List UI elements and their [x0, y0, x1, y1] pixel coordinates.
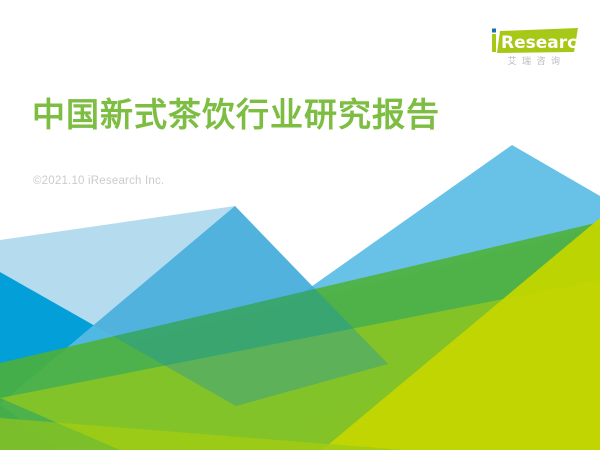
copyright-notice: ©2021.10 iResearch Inc. — [33, 175, 164, 187]
svg-text:Research: Research — [501, 33, 578, 53]
iresearch-logo: Research 艾瑞咨询 — [490, 28, 578, 67]
iresearch-chinese-name: 艾瑞咨询 — [502, 58, 565, 67]
report-cover-page: Research 艾瑞咨询 中国新式茶饮行业研究报告 ©2021.10 iRes… — [0, 0, 600, 450]
page-title: 中国新式茶饮行业研究报告 — [32, 96, 440, 134]
iresearch-wordmark-icon: Research — [490, 28, 578, 54]
geometric-background-art — [0, 0, 600, 450]
